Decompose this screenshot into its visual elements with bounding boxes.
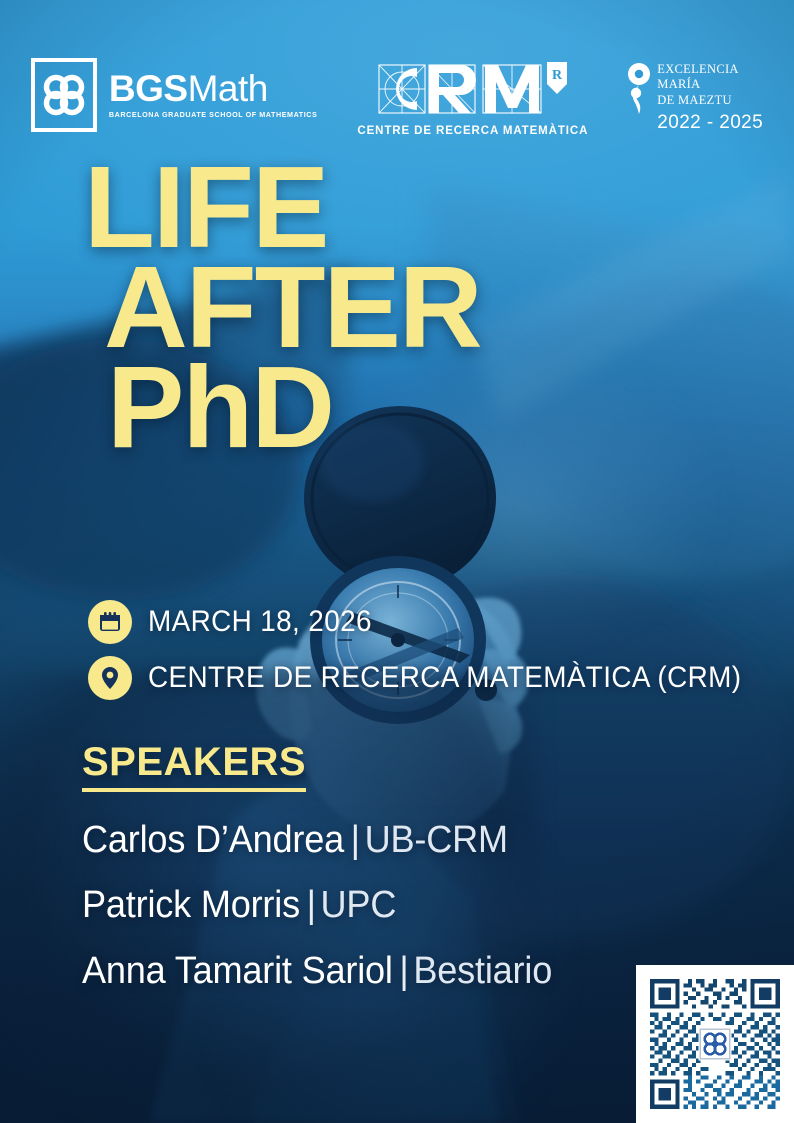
bgsmath-logo: BGSMath BARCELONA GRADUATE SCHOOL OF MAT… [31, 58, 317, 132]
map-pin-icon [88, 656, 132, 700]
event-date-row: MARCH 18, 2026 [88, 600, 786, 644]
speakers-heading: SPEAKERS [82, 740, 306, 792]
speaker-item: Patrick Morris|UPC [82, 873, 552, 938]
qr-code[interactable] [636, 965, 794, 1123]
calendar-icon [88, 600, 132, 644]
logo-row: BGSMath BARCELONA GRADUATE SCHOOL OF MAT… [0, 58, 794, 137]
crm-wordmark: R [373, 60, 573, 118]
speaker-item: Carlos D’Andrea|UB-CRM [82, 808, 552, 873]
svg-text:R: R [552, 68, 563, 83]
poster-title: LIFE AFTER PhD [0, 158, 794, 457]
speaker-separator: | [399, 950, 408, 992]
event-date-text: MARCH 18, 2026 [148, 605, 372, 639]
speakers-section: SPEAKERS Carlos D’Andrea|UB-CRM Patrick … [82, 740, 577, 1004]
maeztu-line1: EXCELENCIA [657, 62, 763, 77]
poster: BGSMath BARCELONA GRADUATE SCHOOL OF MAT… [0, 0, 794, 1123]
speaker-name: Carlos D’Andrea [82, 819, 344, 861]
bgsmath-wordmark-bold: BGS [109, 68, 188, 109]
event-details: MARCH 18, 2026 CENTRE DE RECERCA MATEMÀT… [88, 600, 786, 712]
speaker-separator: | [351, 819, 360, 861]
maeztu-line2: MARÍA [657, 77, 763, 92]
speakers-list: Carlos D’Andrea|UB-CRM Patrick Morris|UP… [82, 808, 577, 1004]
maeztu-years: 2022 - 2025 [657, 112, 763, 134]
bgsmath-subtitle: BARCELONA GRADUATE SCHOOL OF MATHEMATICS [109, 110, 317, 119]
speaker-separator: | [307, 884, 316, 926]
crm-logo: R CENTRE DE RECERCA MATEMÀTICA [357, 60, 588, 137]
bgsmath-flower-icon [31, 58, 97, 132]
maeztu-line3: DE MAEZTU [657, 93, 763, 108]
speaker-name: Anna Tamarit Sariol [82, 950, 393, 992]
speaker-affiliation: UPC [321, 884, 397, 926]
maeztu-logo: EXCELENCIA MARÍA DE MAEZTU 2022 - 2025 [628, 62, 763, 134]
maeztu-key-icon [628, 62, 650, 118]
speaker-affiliation: UB-CRM [365, 819, 508, 861]
bgsmath-wordmark: BGSMath [109, 71, 317, 106]
speaker-name: Patrick Morris [82, 884, 300, 926]
title-line-3: PhD [0, 358, 794, 458]
speaker-affiliation: Bestiario [413, 950, 552, 992]
crm-subtitle: CENTRE DE RECERCA MATEMÀTICA [357, 125, 588, 137]
event-location-text: CENTRE DE RECERCA MATEMÀTICA (CRM) [148, 661, 741, 695]
bgsmath-wordmark-light: Math [188, 68, 268, 109]
event-location-row: CENTRE DE RECERCA MATEMÀTICA (CRM) [88, 656, 786, 700]
speaker-item: Anna Tamarit Sariol|Bestiario [82, 939, 552, 1004]
